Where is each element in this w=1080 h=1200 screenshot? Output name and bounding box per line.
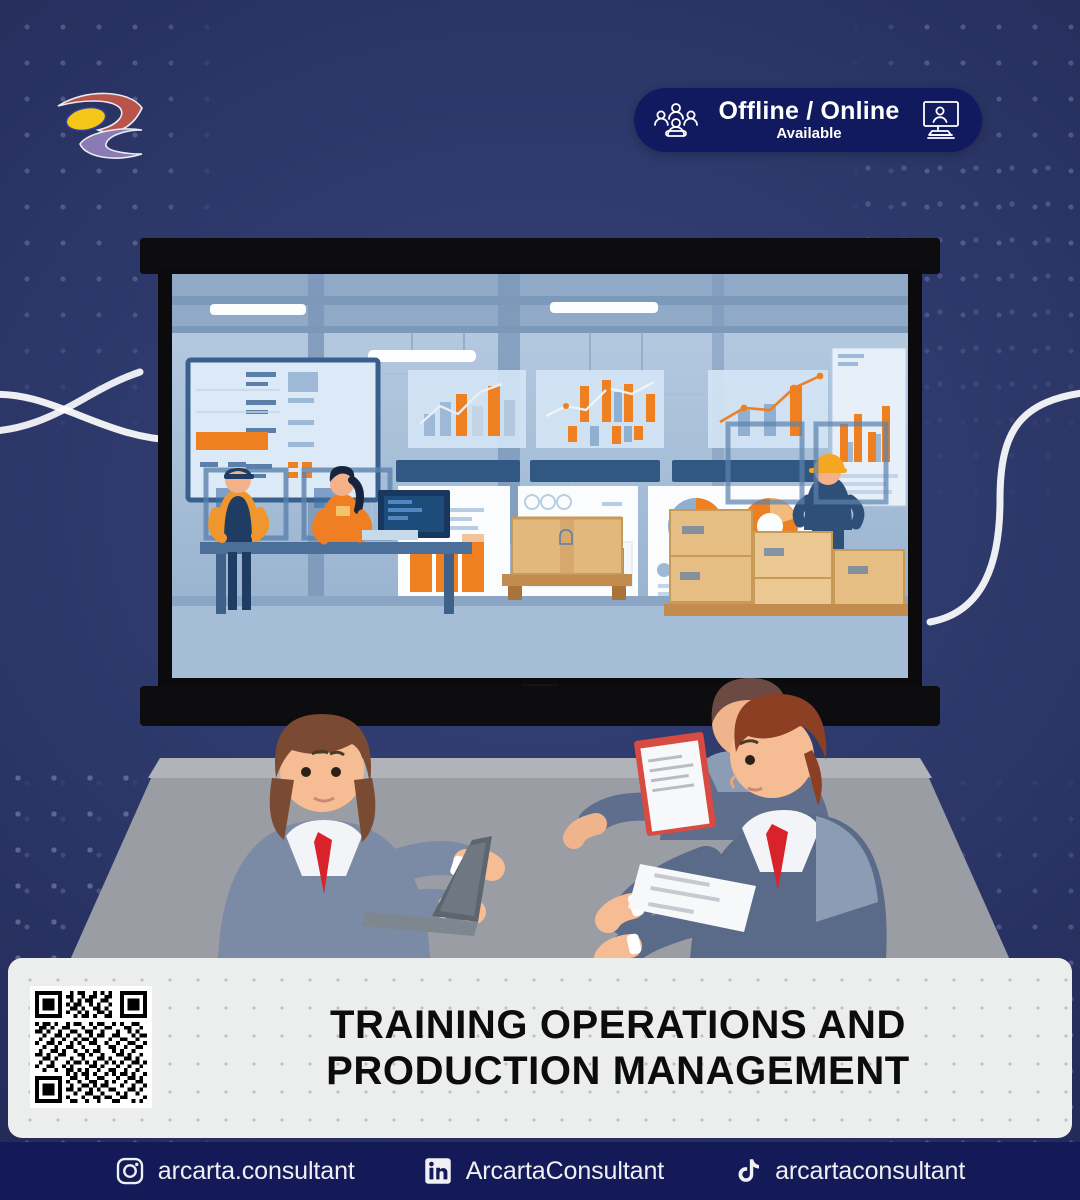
poster-canvas: Offline / Online Available (0, 0, 1080, 1200)
page-title: TRAINING OPERATIONS AND PRODUCTION MANAG… (188, 980, 1048, 1116)
online-monitor-person-icon (918, 99, 964, 141)
social-item-linkedin[interactable]: ArcartaConsultant (389, 1156, 698, 1186)
instagram-icon (115, 1156, 145, 1186)
arcarta-logo (46, 78, 154, 164)
badge-title: Offline / Online (714, 98, 904, 124)
tiktok-icon (732, 1156, 762, 1186)
title-card: TRAINING OPERATIONS AND PRODUCTION MANAG… (8, 958, 1072, 1138)
badge-text-block: Offline / Online Available (714, 98, 904, 142)
availability-badge[interactable]: Offline / Online Available (634, 88, 982, 152)
meeting-group-icon (652, 100, 700, 140)
badge-subtitle: Available (714, 126, 904, 142)
meeting-foreground (0, 540, 1080, 960)
linkedin-icon (423, 1156, 453, 1186)
social-footer: arcarta.consultant ArcartaConsultant arc… (0, 1142, 1080, 1200)
instagram-handle: arcarta.consultant (158, 1157, 355, 1186)
logo-lower-swoosh (80, 129, 142, 158)
linkedin-handle: ArcartaConsultant (466, 1157, 664, 1186)
tiktok-handle: arcartaconsultant (775, 1157, 965, 1186)
social-item-tiktok[interactable]: arcartaconsultant (698, 1156, 999, 1186)
qr-code[interactable] (30, 986, 152, 1108)
social-item-instagram[interactable]: arcarta.consultant (81, 1156, 389, 1186)
meeting-participants-illustration (0, 540, 1080, 960)
